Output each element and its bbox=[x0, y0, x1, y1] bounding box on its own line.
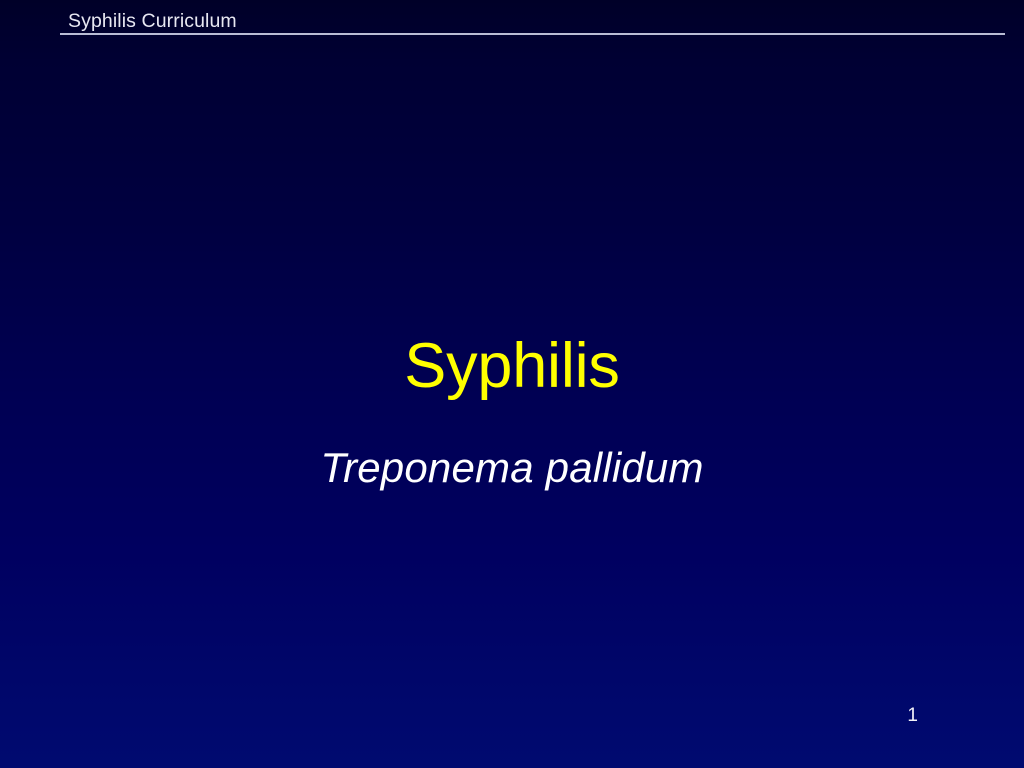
slide-header: Syphilis Curriculum bbox=[0, 0, 1024, 46]
slide-title: Syphilis bbox=[404, 330, 620, 402]
header-divider-rule bbox=[60, 33, 1005, 35]
slide-subtitle: Treponema pallidum bbox=[320, 443, 703, 493]
presentation-slide: Syphilis Curriculum Syphilis Treponema p… bbox=[0, 0, 1024, 768]
page-number: 1 bbox=[907, 705, 918, 727]
title-container: Syphilis bbox=[0, 288, 1024, 444]
header-curriculum-label: Syphilis Curriculum bbox=[68, 10, 237, 32]
subtitle-container: Treponema pallidum bbox=[0, 443, 1024, 493]
